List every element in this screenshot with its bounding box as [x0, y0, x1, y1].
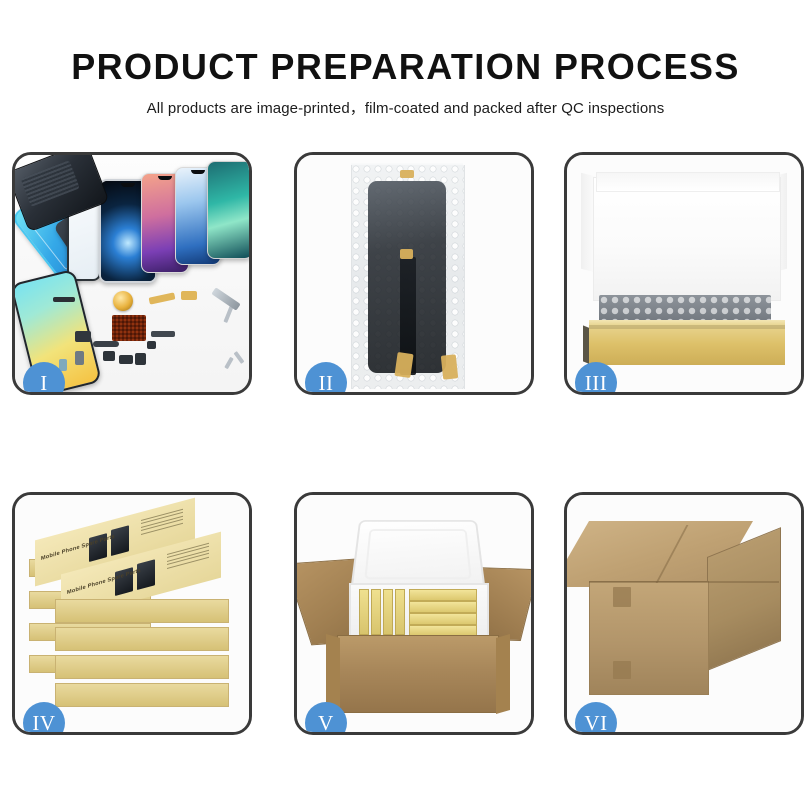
step-panel-1: I	[12, 152, 252, 395]
step-card-3[interactable]: III	[564, 152, 804, 395]
step-card-4[interactable]: Mobile Phone Spare Parts Mobile Phone Sp…	[12, 492, 252, 735]
yellow-box-edge	[395, 589, 405, 635]
step-image-2	[297, 155, 531, 392]
yellow-box-edge	[383, 589, 393, 635]
notch-icon	[121, 183, 135, 187]
kraft-box-base	[589, 325, 785, 365]
part-strip	[53, 297, 75, 302]
yellow-box-edge	[359, 589, 369, 635]
tweezers-icon	[211, 287, 240, 310]
copper-chip	[112, 315, 146, 341]
product-preparation-infographic: PRODUCT PREPARATION PROCESS All products…	[0, 0, 811, 811]
step-image-6	[567, 495, 801, 732]
step-image-5	[297, 495, 531, 732]
bubble-wrap-bag	[351, 165, 465, 389]
speaker-coil-icon	[113, 291, 133, 311]
flex-cable	[181, 291, 197, 300]
yellow-box-flat	[409, 589, 477, 601]
notch-icon	[158, 176, 172, 180]
small-part	[147, 341, 156, 349]
notch-icon	[191, 170, 205, 174]
flex-cable	[149, 292, 176, 304]
gold-connector	[441, 354, 458, 379]
screw-icon	[224, 357, 233, 369]
yellow-box-flat	[409, 601, 477, 613]
carton-tape	[613, 587, 631, 607]
small-part	[119, 355, 133, 364]
small-part	[75, 351, 84, 365]
part-strip	[75, 331, 91, 342]
box-side	[55, 627, 229, 651]
small-part	[103, 351, 115, 361]
foam-lid	[350, 520, 486, 591]
gold-connector	[400, 170, 414, 178]
page-title: PRODUCT PREPARATION PROCESS	[0, 0, 811, 86]
gold-connector	[394, 352, 413, 378]
step-card-5[interactable]: V	[294, 492, 534, 735]
box-spec-lines	[167, 543, 209, 571]
step-panel-2: II	[294, 152, 534, 395]
gold-connector	[400, 249, 413, 259]
step-image-1	[15, 155, 249, 392]
small-part	[135, 353, 146, 365]
page-subtitle: All products are image-printed，film-coat…	[0, 86, 811, 118]
steps-grid: I II	[12, 152, 799, 797]
box-side	[55, 655, 229, 679]
header: PRODUCT PREPARATION PROCESS All products…	[0, 0, 811, 118]
box-spec-lines	[141, 509, 183, 537]
box-side	[55, 599, 229, 623]
box-side	[55, 683, 229, 707]
shipping-carton-open	[337, 635, 499, 713]
step-card-2[interactable]: II	[294, 152, 534, 395]
step-panel-6: VI	[564, 492, 804, 735]
step-panel-4: Mobile Phone Spare Parts Mobile Phone Sp…	[12, 492, 252, 735]
step-image-4: Mobile Phone Spare Parts Mobile Phone Sp…	[15, 495, 249, 732]
step-panel-3: III	[564, 152, 804, 395]
carton-seam	[589, 581, 779, 583]
step-card-1[interactable]: I	[12, 152, 252, 395]
step-panel-5: V	[294, 492, 534, 735]
phone-teal	[207, 161, 249, 259]
box-artwork-thumb	[137, 559, 155, 590]
step-image-3	[567, 155, 801, 392]
yellow-box-flat	[409, 613, 477, 625]
yellow-box-edge	[371, 589, 381, 635]
part-strip	[93, 341, 119, 347]
part-strip	[151, 331, 175, 337]
step-card-6[interactable]: VI	[564, 492, 804, 735]
box-lid-white	[593, 177, 781, 301]
screw-icon	[234, 351, 245, 364]
box-artwork-thumb	[111, 525, 129, 556]
carton-front-face	[589, 581, 709, 695]
carton-tape	[613, 661, 631, 679]
